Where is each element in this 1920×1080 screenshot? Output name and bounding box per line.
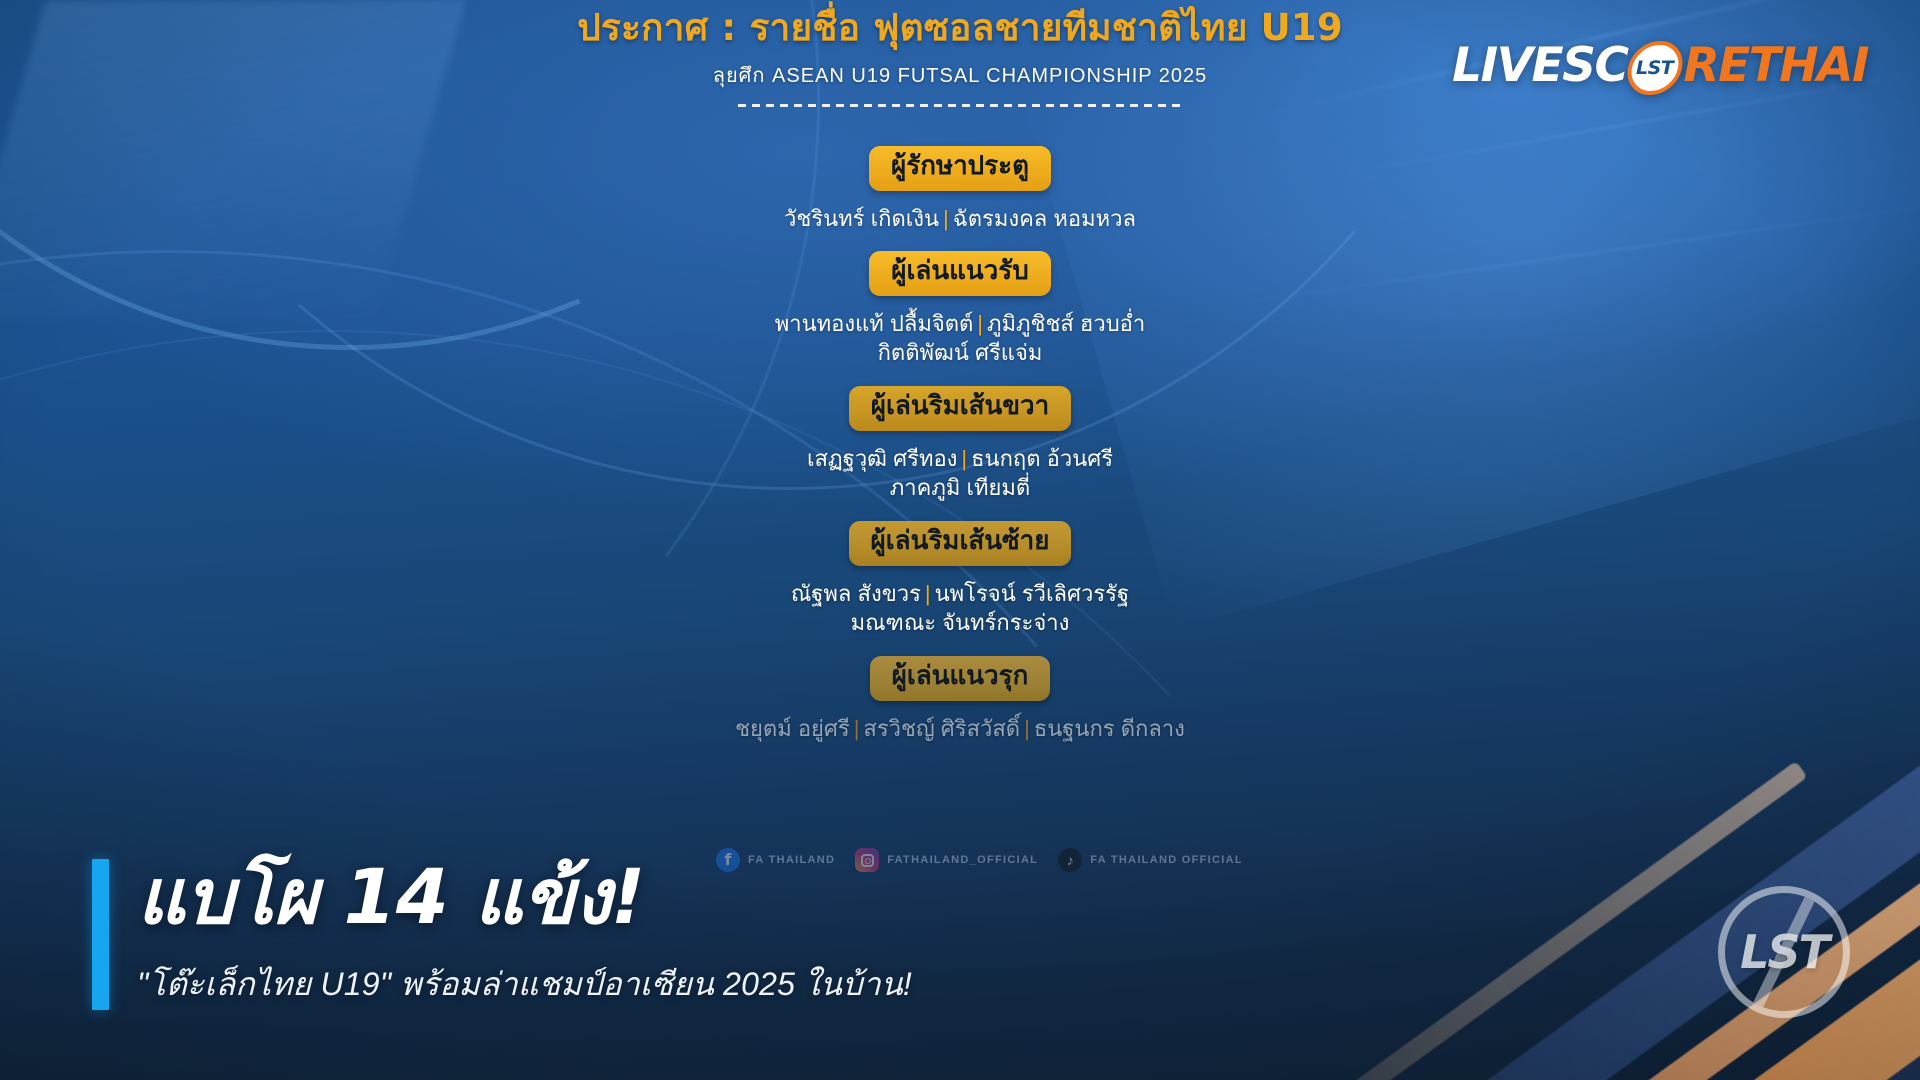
position-label: ผู้เล่นริมเส้นขวา [849, 386, 1071, 431]
tiktok-icon: ♪ [1058, 848, 1082, 872]
brand-text-live: LIVESC [1452, 38, 1627, 93]
headline-text-group: แบโผ 14 แข้ง! "โต๊ะเล็กไทย U19" พร้อมล่า… [137, 859, 912, 1010]
header: ประกาศ : รายชื่อ ฟุตซอลชายทีมชาติไทย U19… [0, 0, 1920, 130]
player-names: ชยุตม์ อยู่ศรี|สรวิชญ์ ศิริสวัสดิ์|ธนฐนก… [610, 714, 1310, 744]
player-name: ฉัตรมงคล หอมหวล [953, 206, 1136, 231]
headline-sub: "โต๊ะเล็กไทย U19" พร้อมล่าแชมป์อาเซียน 2… [137, 959, 912, 1010]
player-names: วัชรินทร์ เกิดเงิน|ฉัตรมงคล หอมหวล [610, 204, 1310, 234]
position-group: ผู้เล่นริมเส้นขวาเสฏฐวุฒิ ศรีทอง|ธนกฤต อ… [610, 386, 1310, 503]
title-divider [738, 104, 1183, 107]
poster-canvas: ประกาศ : รายชื่อ ฟุตซอลชายทีมชาติไทย U19… [0, 0, 1920, 1080]
name-separator: | [957, 446, 971, 471]
page-title: ประกาศ : รายชื่อ ฟุตซอลชายทีมชาติไทย U19 [410, 6, 1510, 50]
brand-text-rethai: RETHAI [1683, 38, 1868, 93]
player-name: นพโรจน์ รวีเลิศวรรัฐ [935, 581, 1129, 606]
player-name: ภูมิภูชิชส์ ฮวบอ่ำ [987, 311, 1145, 336]
player-name: ธนฐนกร ดีกลาง [1034, 716, 1185, 741]
lst-watermark-logo: LST [1718, 886, 1850, 1018]
social-handle: FA THAILAND OFFICIAL [1090, 854, 1243, 866]
title-block: ประกาศ : รายชื่อ ฟุตซอลชายทีมชาติไทย U19… [410, 6, 1510, 107]
player-names: พานทองแท้ ปลื้มจิตต์|ภูมิภูชิชส์ ฮวบอ่ำก… [610, 309, 1310, 368]
bottom-headline: แบโผ 14 แข้ง! "โต๊ะเล็กไทย U19" พร้อมล่า… [92, 859, 912, 1010]
lst-watermark-label: LST [1740, 925, 1828, 979]
player-name: กิตติพัฒน์ ศรีแจ่ม [878, 340, 1043, 365]
lst-badge-icon: LST [1623, 41, 1687, 95]
player-name: ธนกฤต อ้วนศรี [971, 446, 1113, 471]
livescorethai-logo[interactable]: LIVESC LST RETHAI [1452, 38, 1868, 93]
name-separator: | [939, 206, 953, 231]
name-separator: | [850, 716, 864, 741]
name-separator: | [921, 581, 935, 606]
player-name: เสฏฐวุฒิ ศรีทอง [807, 446, 957, 471]
position-group: ผู้เล่นริมเส้นซ้ายณัฐพล สังขวร|นพโรจน์ ร… [610, 521, 1310, 638]
social-item[interactable]: ♪FA THAILAND OFFICIAL [1058, 848, 1243, 872]
name-separator: | [973, 311, 987, 336]
position-label: ผู้เล่นแนวรับ [869, 251, 1050, 296]
position-group: ผู้เล่นแนวรับพานทองแท้ ปลื้มจิตต์|ภูมิภู… [610, 251, 1310, 368]
player-name: มณฑณะ จันทร์กระจ่าง [851, 610, 1070, 635]
accent-bar [92, 859, 109, 1010]
lst-badge-label: LST [1637, 57, 1674, 79]
position-label: ผู้เล่นแนวรุก [870, 656, 1051, 701]
roster-list: ผู้รักษาประตูวัชรินทร์ เกิดเงิน|ฉัตรมงคล… [610, 146, 1310, 761]
player-name: ชยุตม์ อยู่ศรี [735, 716, 850, 741]
headline-main: แบโผ 14 แข้ง! [137, 859, 912, 935]
player-name: ณัฐพล สังขวร [791, 581, 921, 606]
player-name: ภาคภูมิ เทียมตี่ [890, 475, 1030, 500]
position-group: ผู้เล่นแนวรุกชยุตม์ อยู่ศรี|สรวิชญ์ ศิริ… [610, 656, 1310, 743]
player-names: ณัฐพล สังขวร|นพโรจน์ รวีเลิศวรรัฐมณฑณะ จ… [610, 579, 1310, 638]
position-label: ผู้รักษาประตู [869, 146, 1051, 191]
position-group: ผู้รักษาประตูวัชรินทร์ เกิดเงิน|ฉัตรมงคล… [610, 146, 1310, 233]
name-separator: | [1020, 716, 1034, 741]
player-names: เสฏฐวุฒิ ศรีทอง|ธนกฤต อ้วนศรีภาคภูมิ เที… [610, 444, 1310, 503]
page-subtitle: ลุยศึก ASEAN U19 FUTSAL CHAMPIONSHIP 202… [410, 59, 1510, 91]
player-name: สรวิชญ์ ศิริสวัสดิ์ [863, 716, 1020, 741]
player-name: พานทองแท้ ปลื้มจิตต์ [775, 311, 974, 336]
player-name: วัชรินทร์ เกิดเงิน [784, 206, 939, 231]
position-label: ผู้เล่นริมเส้นซ้าย [849, 521, 1072, 566]
